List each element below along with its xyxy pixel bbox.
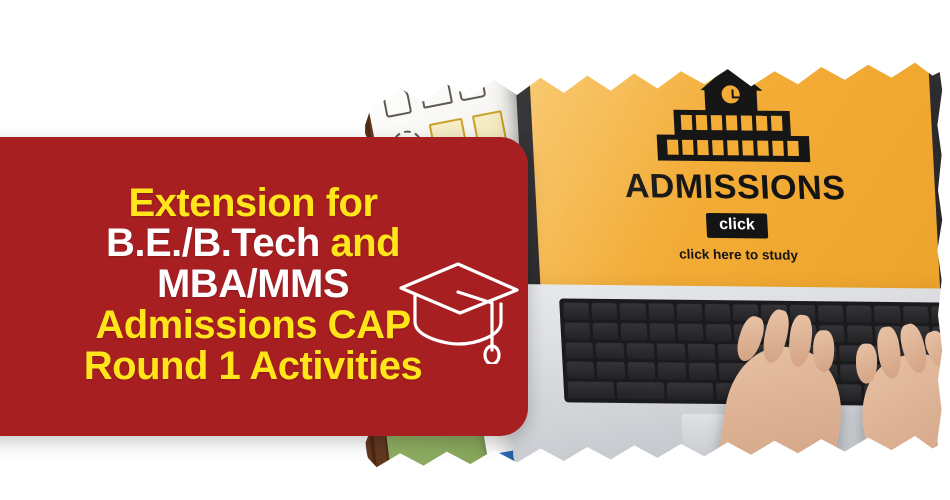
- key: [931, 306, 950, 323]
- key: [846, 305, 872, 322]
- clock-icon: [717, 82, 742, 106]
- window: [711, 115, 723, 130]
- right-hand: [850, 344, 950, 500]
- headline-line-3: MBA/MMS: [84, 264, 422, 305]
- key: [593, 323, 619, 340]
- building-tier-upper: [673, 109, 791, 136]
- key: [620, 303, 646, 320]
- finger: [813, 330, 834, 372]
- key: [596, 342, 624, 359]
- window: [742, 140, 754, 155]
- window: [787, 141, 799, 156]
- headline-text: Extension for B.E./B.Tech and MBA/MMS Ad…: [84, 183, 422, 387]
- window: [667, 140, 679, 155]
- admissions-title: ADMISSIONS: [624, 169, 847, 205]
- click-button[interactable]: click: [706, 212, 769, 238]
- headline-line-5: Round 1 Activities: [84, 346, 422, 387]
- laptop-screen: ADMISSIONS click click here to study: [527, 28, 940, 289]
- key: [649, 323, 675, 340]
- admissions-banner: ADMISSIONS click click here to study: [0, 0, 950, 500]
- key: [676, 304, 702, 321]
- window: [741, 115, 753, 130]
- key: [687, 343, 715, 360]
- key: [657, 343, 685, 360]
- key: [903, 306, 929, 323]
- key: [566, 362, 594, 379]
- key: [617, 382, 664, 399]
- key: [565, 342, 593, 359]
- headline-line-2: B.E./B.Tech and: [84, 223, 422, 264]
- flag-icon: [728, 34, 759, 54]
- key: [666, 383, 713, 400]
- sketch-icon-2: [418, 76, 453, 109]
- laptop: ADMISSIONS click click here to study: [513, 6, 950, 500]
- window: [726, 115, 738, 130]
- headline-line-2-white: B.E./B.Tech: [106, 221, 320, 265]
- key: [563, 303, 589, 320]
- headline-card: Extension for B.E./B.Tech and MBA/MMS Ad…: [0, 137, 528, 436]
- window: [772, 141, 784, 156]
- window: [697, 140, 709, 155]
- key: [874, 306, 900, 323]
- key: [564, 322, 590, 339]
- window: [682, 140, 694, 155]
- key: [567, 382, 614, 399]
- headline-line-2-yellow: and: [330, 221, 400, 265]
- key: [626, 343, 654, 360]
- key: [592, 303, 618, 320]
- window: [756, 116, 768, 131]
- admissions-subtitle: click here to study: [679, 246, 799, 262]
- window: [771, 116, 783, 131]
- sketch-icon-3: [456, 69, 487, 101]
- key: [847, 325, 873, 342]
- key: [818, 305, 844, 322]
- key: [705, 304, 731, 321]
- school-building-icon: [640, 55, 822, 165]
- building-tier-lower: [656, 134, 810, 162]
- key: [658, 363, 686, 380]
- window: [757, 141, 769, 156]
- key: [677, 323, 703, 340]
- window: [681, 115, 693, 130]
- key: [706, 324, 732, 341]
- key: [621, 323, 647, 340]
- key: [648, 303, 674, 320]
- headline-line-1: Extension for: [84, 183, 422, 224]
- key: [688, 363, 716, 380]
- window: [696, 115, 708, 130]
- laptop-lid: ADMISSIONS click click here to study: [512, 17, 950, 303]
- key: [627, 362, 655, 379]
- finger: [856, 344, 877, 384]
- window: [712, 140, 724, 155]
- key: [597, 362, 625, 379]
- sketch-icon-1: [381, 84, 412, 118]
- headline-line-4: Admissions CAP: [84, 305, 422, 346]
- window: [727, 140, 739, 155]
